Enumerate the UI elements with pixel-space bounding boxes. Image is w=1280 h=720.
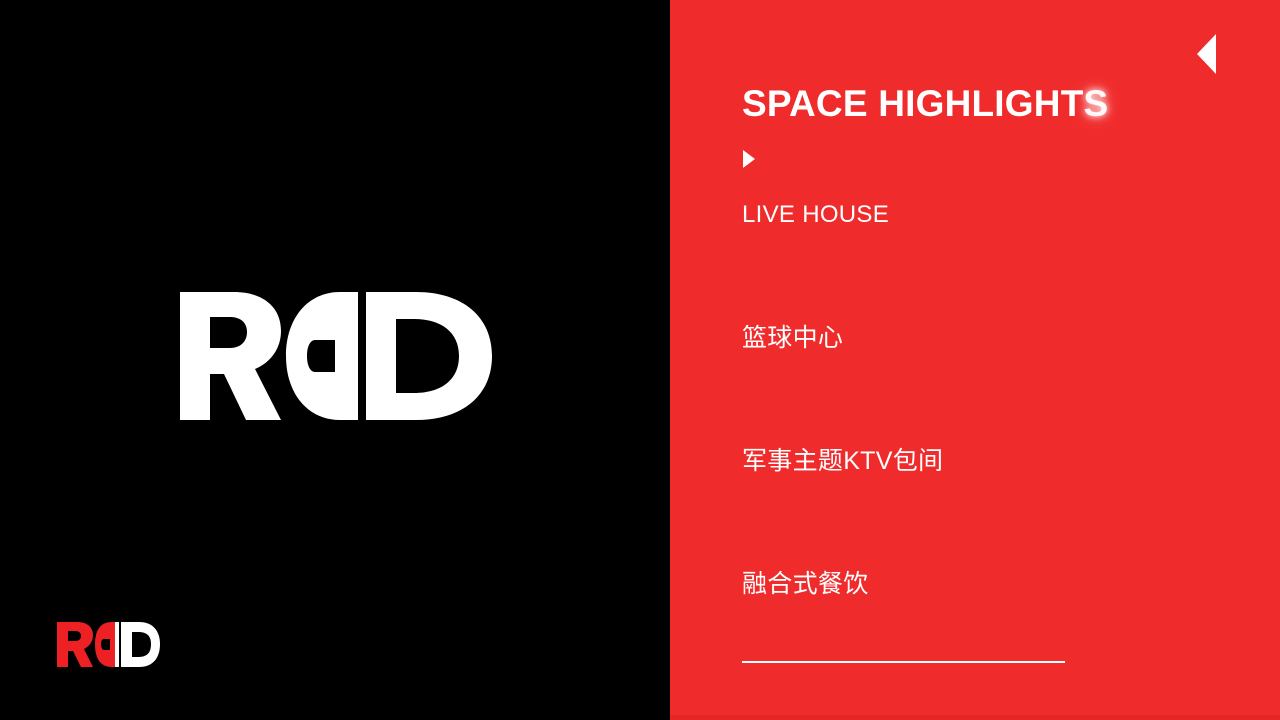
bottom-divider xyxy=(742,661,1065,663)
list-item: 篮球中心 xyxy=(742,326,1082,449)
slide-canvas: SPACE HIGHLIGHTS LIVE HOUSE 篮球中心 军事主题KTV… xyxy=(0,0,1280,720)
space-highlights-list: LIVE HOUSE 篮球中心 军事主题KTV包间 融合式餐饮 xyxy=(742,203,1082,695)
list-item: 军事主题KTV包间 xyxy=(742,449,1082,572)
red-wordmark-outline-watermark xyxy=(1092,363,1224,720)
list-bullet-triangle-icon xyxy=(743,150,755,168)
list-item: 融合式餐饮 xyxy=(742,572,1082,695)
red-wordmark-logo-small xyxy=(57,621,160,667)
prev-slide-triangle-icon[interactable] xyxy=(1197,34,1216,74)
page-title-main: SPACE HIGHLIGHT xyxy=(742,83,1084,124)
page-title-soft-tail: S xyxy=(1084,83,1109,124)
list-item: LIVE HOUSE xyxy=(742,203,1082,326)
page-title: SPACE HIGHLIGHTS xyxy=(742,85,1108,122)
left-black-panel xyxy=(0,0,670,720)
red-wordmark-logo xyxy=(180,290,492,420)
